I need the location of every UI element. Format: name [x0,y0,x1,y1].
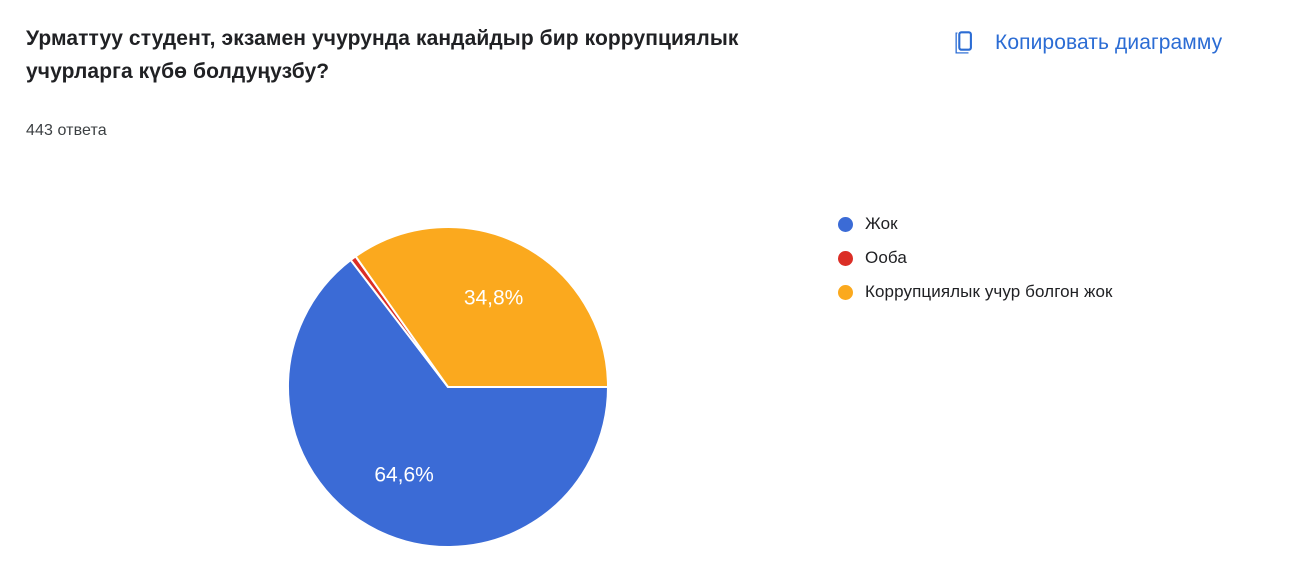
legend-item-1[interactable]: Ооба [838,241,1113,275]
legend-item-2[interactable]: Коррупциялык учур болгон жок [838,275,1113,309]
page-title: Урматтуу студент, экзамен учурунда канда… [26,22,786,88]
copy-chart-icon [946,26,980,60]
legend-label-1: Ооба [865,248,907,268]
chart-header: Урматтуу студент, экзамен учурунда канда… [0,0,1315,165]
pie-slice-group [288,227,608,547]
legend-swatch-icon-1 [838,251,853,266]
legend-swatch-icon-2 [838,285,853,300]
legend-item-0[interactable]: Жок [838,207,1113,241]
response-count-label: 443 ответа [26,122,107,140]
legend-label-2: Коррупциялык учур болгон жок [865,282,1113,302]
legend-label-0: Жок [865,214,898,234]
chart-legend: Жок Ооба Коррупциялык учур болгон жок [838,207,1113,309]
pie-chart-area: 64,6%34,8% Жок Ооба Коррупциялык учур бо… [0,165,1315,580]
copy-chart-button[interactable]: Копировать диаграмму [940,18,1228,68]
legend-swatch-icon-0 [838,217,853,232]
pie-slice-label-0: 64,6% [374,463,434,486]
pie-chart[interactable]: 64,6%34,8% [250,185,670,575]
pie-slice-label-2: 34,8% [464,286,524,309]
copy-chart-label: Копировать диаграмму [995,31,1222,55]
